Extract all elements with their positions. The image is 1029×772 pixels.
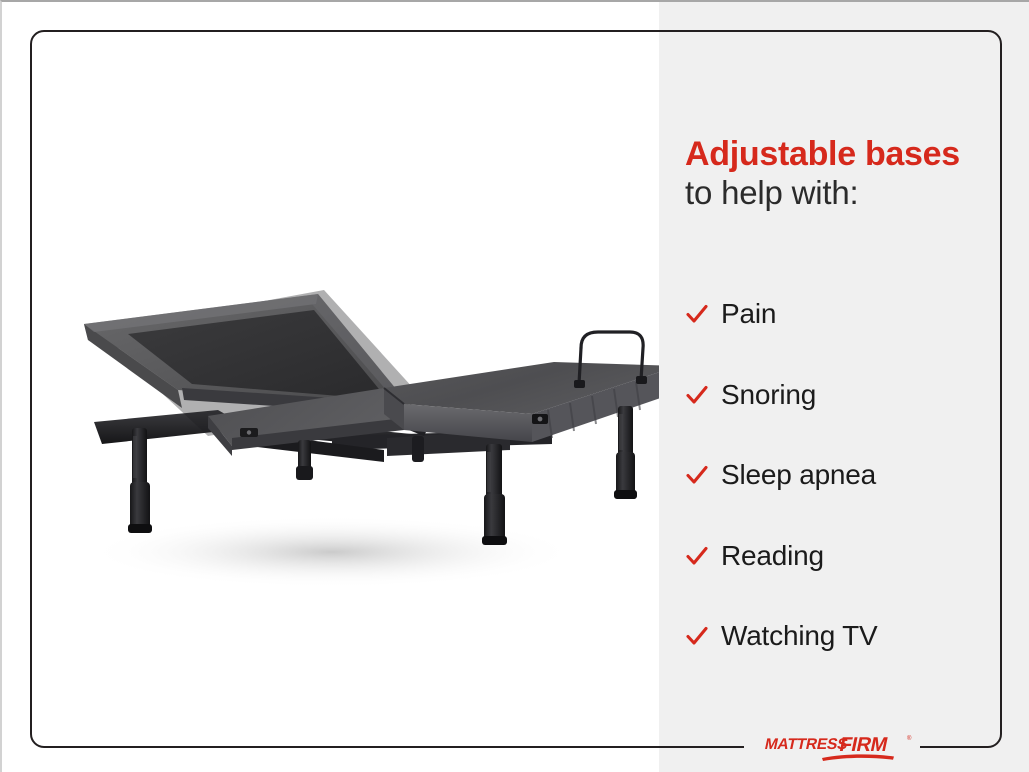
logo-swoosh-underline xyxy=(822,754,894,761)
mattress-firm-logo-mark: MATTRESS FIRM ® xyxy=(744,730,920,764)
slide-canvas: Adjustable bases to help with: Pain Snor… xyxy=(0,0,1029,772)
logo-text-mattress: MATTRESS xyxy=(763,736,849,753)
mattress-firm-logo: MATTRESS FIRM ® xyxy=(744,729,920,765)
logo-trademark: ® xyxy=(907,735,912,742)
content-frame-border xyxy=(30,30,1002,748)
logo-text-firm: FIRM xyxy=(837,734,889,756)
